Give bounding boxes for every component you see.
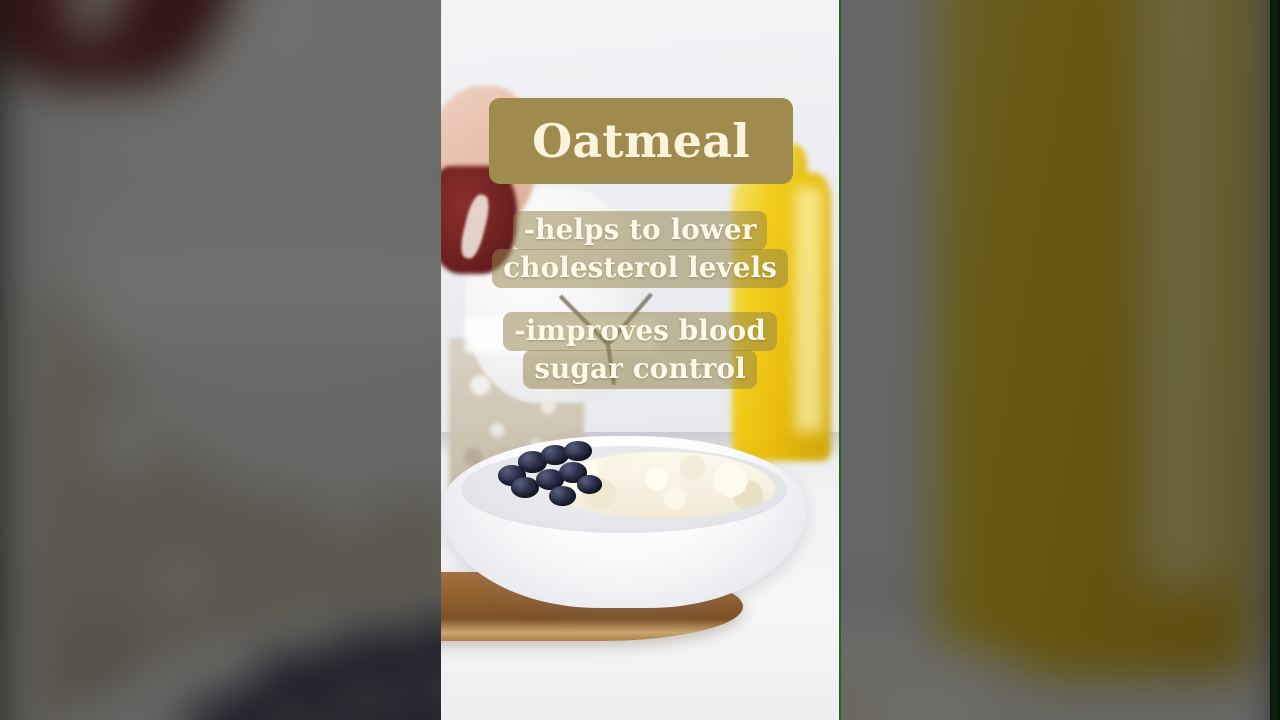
bottle-glow	[795, 187, 823, 432]
right-edge-green-bar	[1270, 0, 1280, 720]
blueberry	[564, 441, 592, 462]
video-player-stage: Oatmeal -helps to lower cholesterol leve…	[0, 0, 1280, 720]
blueberry	[549, 486, 576, 506]
kettle-wire	[552, 288, 655, 389]
blueberries-group	[493, 439, 620, 507]
video-panel[interactable]: Oatmeal -helps to lower cholesterol leve…	[441, 0, 839, 720]
blueberry	[511, 477, 539, 498]
panel-right-seam	[839, 0, 841, 720]
blueberry	[577, 475, 602, 494]
scene-graphics	[441, 0, 839, 720]
